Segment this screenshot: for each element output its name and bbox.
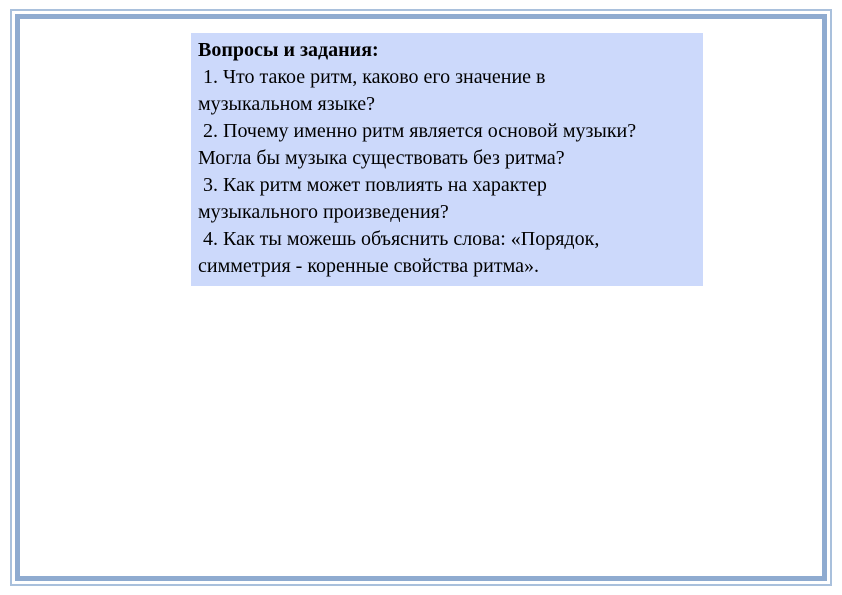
question-line-5: 3. Как ритм может повлиять на характер	[198, 172, 695, 199]
question-line-3: 2. Почему именно ритм является основой м…	[198, 118, 695, 145]
question-line-1: 1. Что такое ритм, каково его значение в	[198, 64, 695, 91]
question-line-4: Могла бы музыка существовать без ритма?	[198, 145, 695, 172]
slide-content-area: Вопросы и задания: 1. Что такое ритм, ка…	[25, 24, 817, 571]
questions-and-tasks-box: Вопросы и задания: 1. Что такое ритм, ка…	[191, 33, 703, 286]
questions-box-title: Вопросы и задания:	[198, 37, 695, 64]
question-line-6: музыкального произведения?	[198, 199, 695, 226]
question-line-2: музыкальном языке?	[198, 91, 695, 118]
question-line-8: симметрия - коренные свойства ритма».	[198, 253, 695, 280]
question-line-7: 4. Как ты можешь объяснить слова: «Поряд…	[198, 226, 695, 253]
